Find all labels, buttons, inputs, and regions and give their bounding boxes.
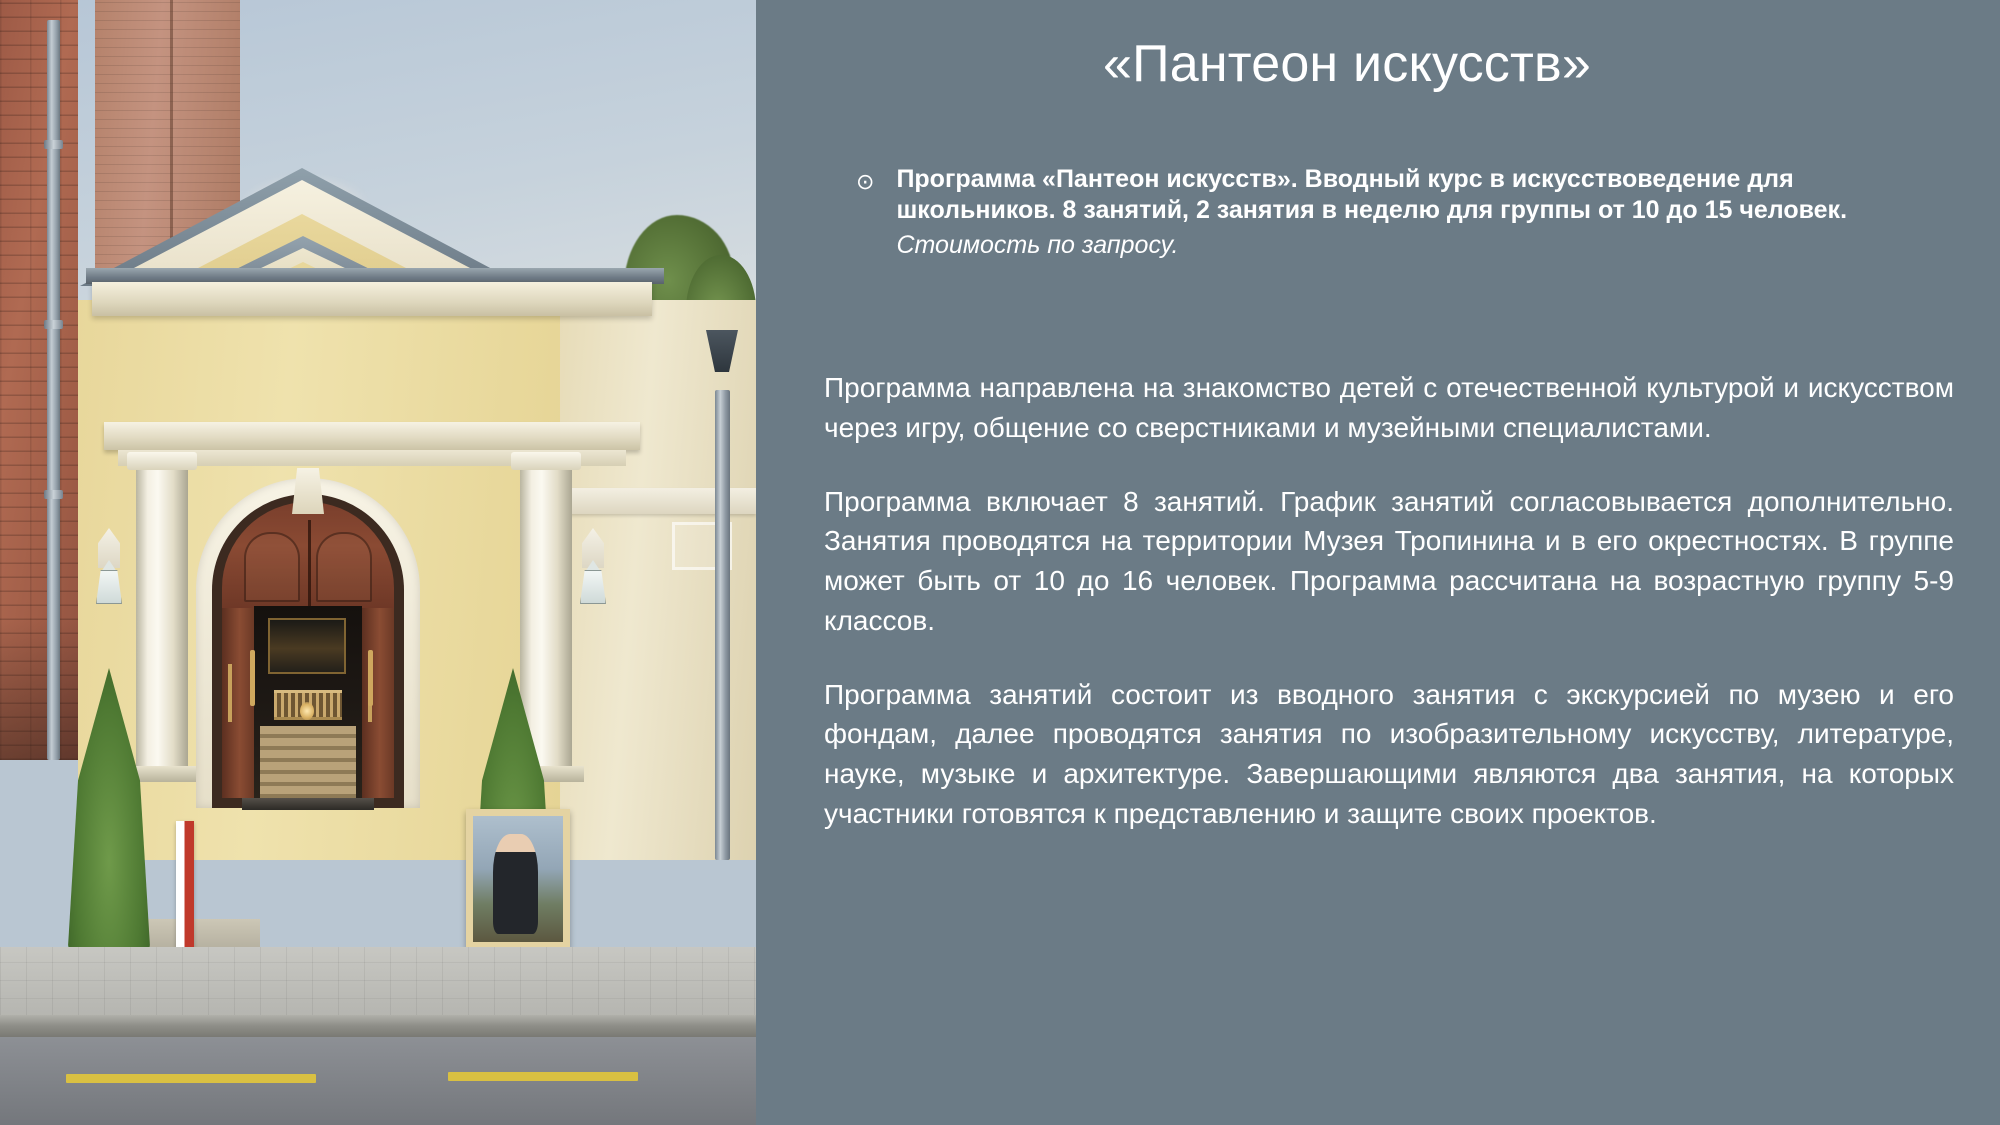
paragraph-3: Программа занятий состоит из вводного за… — [824, 675, 1954, 834]
arch-keystone — [292, 468, 324, 514]
paragraph-1: Программа направлена на знакомство детей… — [824, 368, 1954, 448]
drainpipe-left — [47, 20, 60, 760]
door-leaf-right — [362, 608, 394, 798]
bullet-item: ⊙ Программа «Пантеон искусств». Вводный … — [856, 164, 1942, 261]
framed-portrait-painting — [466, 809, 570, 949]
museum-interior — [254, 606, 362, 798]
interior-painting — [268, 618, 346, 674]
wall-lantern-right — [580, 560, 606, 604]
paragraph-2: Программа включает 8 занятий. График зан… — [824, 482, 1954, 641]
cornice-moulding — [104, 422, 640, 450]
brick-wall — [0, 0, 78, 760]
slide-title: «Пантеон искусств» — [756, 34, 1938, 94]
drainpipe-right — [715, 390, 730, 860]
entablature — [92, 282, 652, 316]
bullet-primary-text: Программа «Пантеон искусств». Вводный ку… — [896, 164, 1942, 227]
wall-lantern-left — [96, 560, 122, 604]
road-marking-left — [66, 1074, 316, 1083]
door-threshold — [242, 798, 374, 810]
bullet-price-note: Стоимость по запросу. — [896, 229, 1942, 262]
museum-entrance-photo — [0, 0, 756, 1125]
door-handle-left — [250, 650, 255, 706]
presentation-slide: «Пантеон искусств» ⊙ Программа «Пантеон … — [0, 0, 2000, 1125]
circled-dot-bullet-icon: ⊙ — [856, 164, 874, 196]
curb — [0, 1015, 756, 1039]
bullet-content: Программа «Пантеон искусств». Вводный ку… — [896, 164, 1942, 261]
slide-content-panel: «Пантеон искусств» ⊙ Программа «Пантеон … — [756, 0, 2000, 1125]
road-marking-right — [448, 1072, 638, 1081]
body-paragraphs: Программа направлена на знакомство детей… — [824, 368, 1954, 834]
pavement — [0, 947, 756, 1017]
door-handle-right — [368, 650, 373, 706]
interior-steps — [260, 726, 356, 798]
column-left — [136, 468, 188, 768]
interior-lamp — [300, 702, 314, 720]
